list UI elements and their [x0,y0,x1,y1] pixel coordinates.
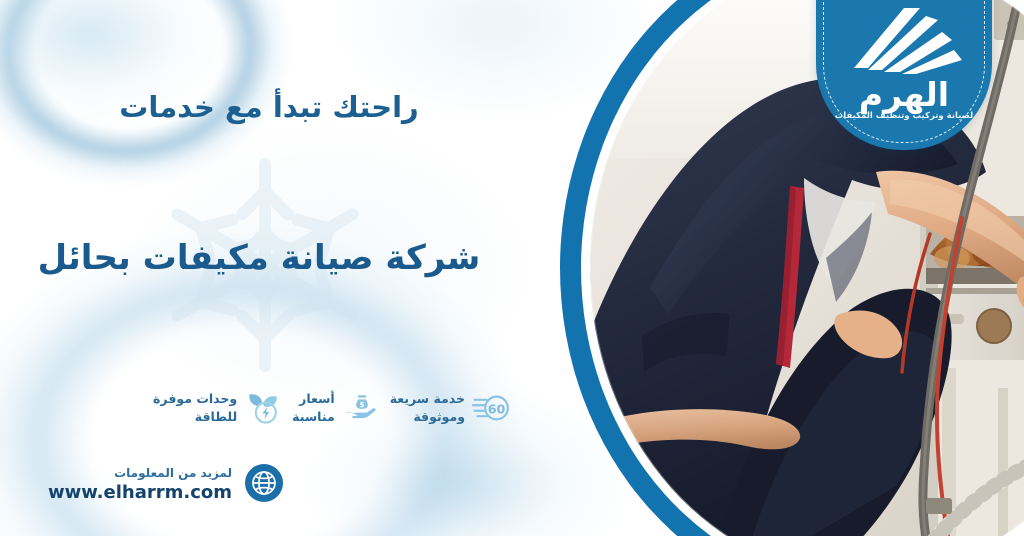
website-url[interactable]: www.elharrm.com [48,482,232,503]
globe-icon [244,463,284,503]
logo-wordmark: الهرم [816,78,992,111]
footer-subtitle: لمزيد من المعلومات [114,466,232,480]
company-logo[interactable]: الهرم لصيانة وتركيب وتنظيف المكيفات [816,0,992,150]
background-wash-top-left-inner [0,0,240,150]
banner-title: شركة صيانة مكيفات بحائل [24,238,494,278]
feature-label-fast-service: خدمة سريعة وموثوقة [390,390,465,426]
logo-tagline: لصيانة وتركيب وتنظيف المكيفات [816,112,992,121]
fan-rays-icon [842,6,966,84]
feature-item-fast-service: 60 خدمة سريعة وموثوقة [390,388,512,428]
speed-badge-value: 60 [488,401,506,416]
feature-item-fair-prices: $ أسعار مناسبة [292,388,382,428]
footer-contact[interactable]: لمزيد من المعلومات www.elharrm.com [0,462,284,504]
hand-money-icon: $ [342,388,382,428]
feature-item-energy-saving: وحدات موفرة للطاقة [153,388,284,428]
svg-text:$: $ [359,400,364,409]
energy-leaf-icon [244,388,284,428]
speed-60-icon: 60 [472,388,512,428]
footer-text-block: لمزيد من المعلومات www.elharrm.com [0,462,232,504]
feature-label-energy-saving: وحدات موفرة للطاقة [153,390,237,426]
promo-banner: راحتك تبدأ مع خدمات شركة صيانة مكيفات بح… [0,0,1024,536]
feature-list: 60 خدمة سريعة وموثوقة $ أسعار مناسبة [62,388,512,428]
feature-label-fair-prices: أسعار مناسبة [292,390,335,426]
banner-headline: راحتك تبدأ مع خدمات [34,90,504,124]
